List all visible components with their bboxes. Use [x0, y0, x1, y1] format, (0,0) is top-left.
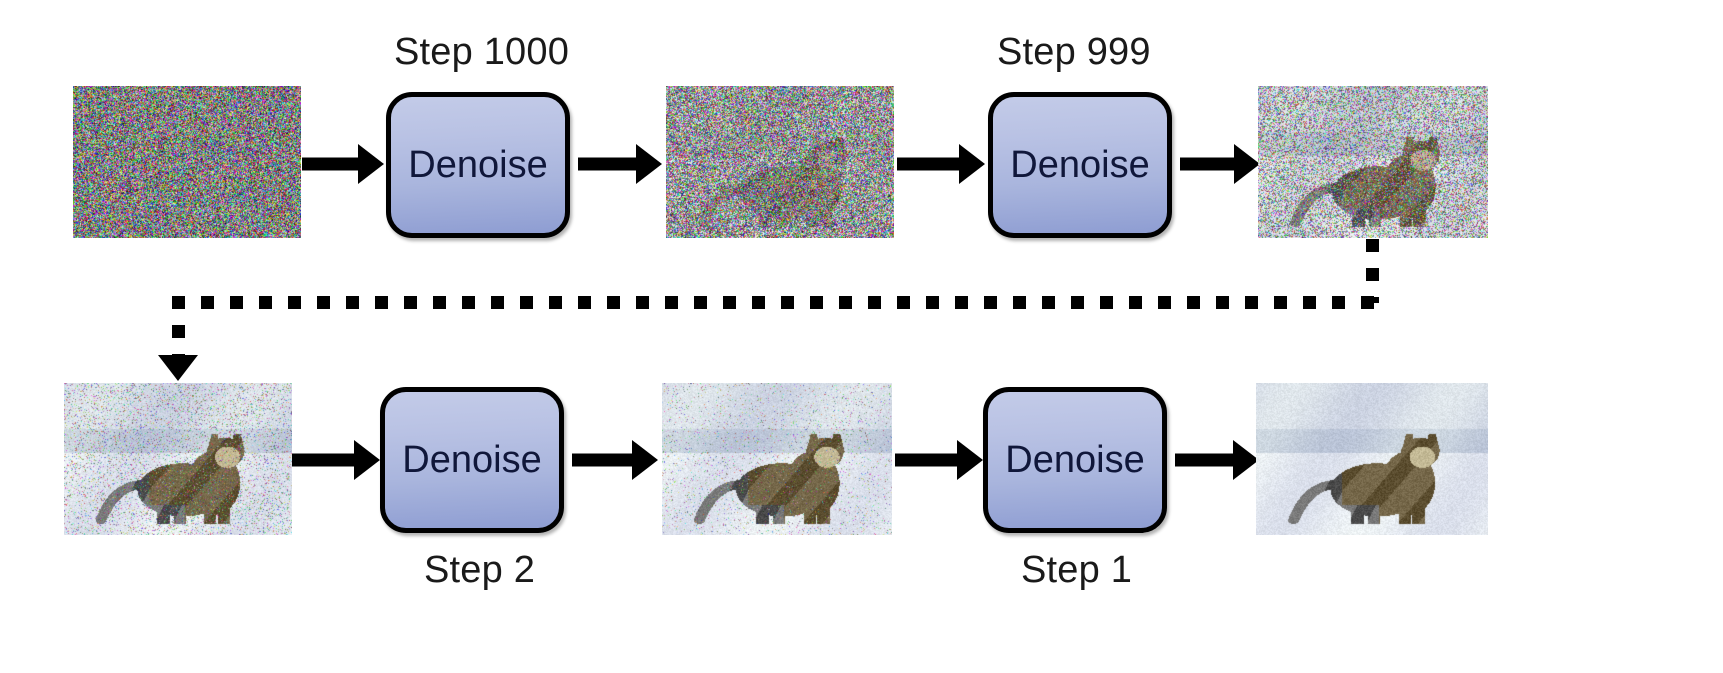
label-step-1: Step 1	[1021, 551, 1132, 589]
image-noise-medium	[1258, 86, 1488, 238]
arrow-head	[636, 144, 662, 184]
arrow-head	[959, 144, 985, 184]
feedback-arrow-head	[158, 355, 198, 381]
arrow-head	[358, 144, 384, 184]
arrow-head	[1234, 144, 1260, 184]
denoise-box-label: Denoise	[1005, 441, 1144, 479]
arrow-shaft	[897, 158, 961, 171]
diagram-canvas: Step 1000 Step 999 Denoise Denoise	[0, 0, 1723, 673]
feedback-line-down-right	[1366, 239, 1379, 303]
denoise-box-label: Denoise	[402, 441, 541, 479]
label-step-1000: Step 1000	[394, 33, 569, 71]
image-noise-full	[73, 86, 301, 238]
arrow-shaft	[1180, 158, 1236, 171]
arrow-shaft	[895, 454, 959, 467]
denoise-box-3[interactable]: Denoise	[380, 387, 564, 533]
arrow-shaft	[572, 454, 634, 467]
denoise-box-2[interactable]: Denoise	[988, 92, 1172, 238]
denoise-box-label: Denoise	[1010, 146, 1149, 184]
image-clean	[1256, 383, 1488, 535]
arrow-shaft	[292, 454, 356, 467]
arrow-head	[354, 440, 380, 480]
arrow-head	[957, 440, 983, 480]
feedback-line-down-left	[172, 296, 185, 360]
label-step-999: Step 999	[997, 33, 1151, 71]
denoise-box-label: Denoise	[408, 146, 547, 184]
label-step-2: Step 2	[424, 551, 535, 589]
arrow-head	[632, 440, 658, 480]
image-noise-light	[64, 383, 292, 535]
image-noise-faint	[662, 383, 892, 535]
feedback-line-horizontal	[172, 296, 1379, 309]
denoise-box-1[interactable]: Denoise	[386, 92, 570, 238]
denoise-box-4[interactable]: Denoise	[983, 387, 1167, 533]
arrow-shaft	[578, 158, 638, 171]
arrow-shaft	[1175, 454, 1235, 467]
arrow-shaft	[302, 158, 360, 171]
image-noise-heavy	[666, 86, 894, 238]
